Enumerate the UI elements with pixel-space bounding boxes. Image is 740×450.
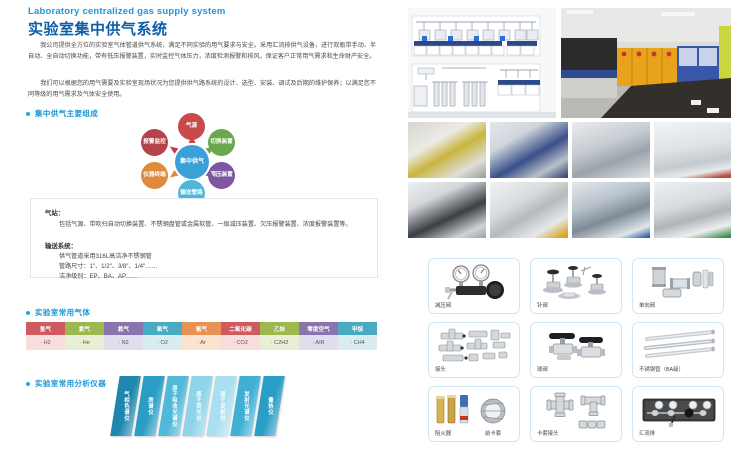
diagram-node-alarm-monitoring: 报警监控 [141,129,168,156]
gas-column: 氦气· He [65,322,104,350]
gas-name-header: 甲烷 [338,322,377,335]
diagram-node-label: 切换装置 [210,139,232,146]
product-card-grid: 减压阀 针阀 [428,258,734,446]
pressure-regulator-icon [429,263,519,301]
product-label: 汇流排 [639,429,655,437]
product-label: 单向阀 [639,301,655,309]
product-card-pressure-regulator[interactable]: 减压阀 [428,258,520,314]
section-heading-label: 集中供气主要组成 [35,108,98,119]
photo-laboratory-room [561,8,731,118]
gas-name-header: 氦气 [65,322,104,335]
page-title-english: Laboratory centralized gas supply system [28,6,226,17]
product-card-stainless-tube[interactable]: 不锈钢管（BA级） [632,322,724,378]
instrument-label: 发射光谱仪 [242,391,250,421]
product-card-check-valve[interactable]: 单向阀 [632,258,724,314]
product-label: 接头 [435,365,446,373]
product-label: 卡套接头 [537,429,559,437]
spec-info-box: 气站： 包括气源、带吹扫自动切换装置、不锈钢盘管或金属软管、一级减压装置、欠压报… [30,198,378,278]
lab-room-illustration [561,8,731,118]
diagram-node-instrument-terminal: 仪器终端 [141,162,168,189]
product-card-flame-arrestor[interactable]: 阻火器 前卡套 [428,386,520,442]
diagram-node-label: 仪器终端 [143,172,165,179]
gas-name-header: 二氧化碳 [221,322,260,335]
diagram-node-center: 集中供气 [175,145,209,179]
photo-cylinder-bank-room [408,182,486,238]
spec-text-cleanliness: 洁净级别：EP、BA、AP…… [59,272,138,282]
instrument-label: 量热仪 [266,397,274,415]
bullet-dot-icon [26,112,30,116]
ball-valve-icon [531,327,621,365]
gas-formula-cell: · H2 [26,335,65,350]
page-title-chinese: 实验室集中供气系统 [28,18,168,39]
spec-text-pipe-material: 供气管道采用316L高洁净不锈钢管 [59,252,152,262]
product-card-needle-valve[interactable]: 针阀 [530,258,622,314]
common-gases-table: 氢气· H2氦气· He氮气· N2氧气· O2氩气· Ar二氧化碳· CO2乙… [26,322,377,350]
instrument-label: 气相色谱仪 [122,391,130,421]
gas-name-header: 零度空气 [299,322,338,335]
gas-supply-hub-diagram: 集中供气 气源 切换装置 调压装置 输送管路 仪器终端 报警监控 [132,112,252,212]
instrument-label: 原子吸收光谱仪 [170,385,178,427]
photo-cylinder-manifold-wall [490,122,568,178]
gas-column: 二氧化碳· CO2 [221,322,260,350]
gas-column: 氮气· N2 [104,322,143,350]
product-label-secondary: 前卡套 [485,429,501,437]
gas-formula-cell: · He [65,335,104,350]
gas-column: 氢气· H2 [26,322,65,350]
gas-formula-cell: · CO2 [221,335,260,350]
photo-gas-control-cabinets [490,182,568,238]
section-heading-label: 实验室常用分析仪器 [35,378,106,389]
gas-name-header: 氧气 [143,322,182,335]
left-content-column: Laboratory centralized gas supply system… [0,0,398,450]
product-card-fittings[interactable]: 接头 [428,322,520,378]
diagram-node-label: 调压装置 [210,172,232,179]
analytical-instruments-row: 气相色谱仪质谱仪原子吸收光谱仪原子荧光仪原子发射仪发射光谱仪量热仪 [115,376,285,442]
section-heading-analytical-instruments: 实验室常用分析仪器 [26,378,106,389]
gas-formula-cell: · Ar [182,335,221,350]
brochure-page: Laboratory centralized gas supply system… [0,0,740,450]
instrument-label: 质谱仪 [146,397,154,415]
gas-name-header: 乙炔 [260,322,299,335]
diagram-node-center-label: 集中供气 [180,159,204,166]
gas-column: 氩气· Ar [182,322,221,350]
product-label: 球阀 [537,365,548,373]
product-card-ball-valve[interactable]: 球阀 [530,322,622,378]
diagram-node-label: 输送管路 [180,190,202,197]
instrument-label: 原子荧光仪 [194,391,202,421]
photo-regulator-array [572,182,650,238]
section-heading-composition: 集中供气主要组成 [26,108,98,119]
diagram-node-switching-device: 切换装置 [208,129,235,156]
gas-column: 甲烷· CH4 [338,322,377,350]
gas-name-header: 氮气 [104,322,143,335]
product-card-manifold[interactable]: 汇流排 [632,386,724,442]
product-label: 不锈钢管（BA级） [639,365,684,373]
product-label: 减压阀 [435,301,451,309]
spec-text-pipe-sizes: 管路尺寸：1″、1/2″、3/8″、1/4″…… [59,262,157,272]
gas-formula-cell: · CH4 [338,335,377,350]
ferrule-fitting-icon [531,391,621,429]
schematic-drawing [408,8,556,118]
spec-title-gas-station: 气站： [45,208,64,217]
diagram-node-regulator-device: 调压装置 [208,162,235,189]
diagram-node-gas-source: 气源 [178,113,205,140]
gas-column: 零度空气· AIR [299,322,338,350]
fittings-icon [429,327,519,365]
gas-formula-cell: · N2 [104,335,143,350]
manifold-icon [633,391,723,429]
product-card-ferrule-fitting[interactable]: 卡套接头 [530,386,622,442]
product-label: 针阀 [537,301,548,309]
bullet-dot-icon [26,382,30,386]
photo-cleanroom-corridor [572,122,650,178]
flame-arrestor-icon [429,391,519,429]
photo-gas-system-schematic [408,8,556,118]
diagram-node-label: 气源 [186,123,197,130]
bullet-dot-icon [26,311,30,315]
instrument-label: 原子发射仪 [218,391,226,421]
photo-pipeline-wall [654,182,731,238]
stainless-tube-icon [633,327,723,365]
product-label: 阻火器 [435,429,451,437]
section-heading-common-gases: 实验室常用气体 [26,307,90,318]
diagram-node-label: 报警监控 [143,139,165,146]
needle-valve-icon [531,263,621,301]
intro-paragraph-2: 我们可以根据您的用气需要及实验室现场状况为您提供供气路系统的设计、选型、安装、调… [28,78,376,100]
intro-paragraph-1: 我公司提供全方位的实验室气体管道供气系统，满足不同实验的用气要求与安全。采用汇流… [28,40,376,62]
gas-formula-cell: · O2 [143,335,182,350]
section-heading-label: 实验室常用气体 [35,307,90,318]
gas-column: 氧气· O2 [143,322,182,350]
spec-title-delivery-system: 输送系统： [45,241,77,250]
gas-formula-cell: · C2H2 [260,335,299,350]
gas-name-header: 氩气 [182,322,221,335]
spec-text-gas-station: 包括气源、带吹扫自动切换装置、不锈钢盘管或金属软管、一级减压装置、欠压报警装置、… [59,220,369,230]
gas-formula-cell: · AIR [299,335,338,350]
photo-gas-panel-wall [654,122,731,178]
photo-gas-cabinet-room [408,122,486,178]
gas-name-header: 氢气 [26,322,65,335]
gas-column: 乙炔· C2H2 [260,322,299,350]
check-valve-icon [633,263,723,301]
